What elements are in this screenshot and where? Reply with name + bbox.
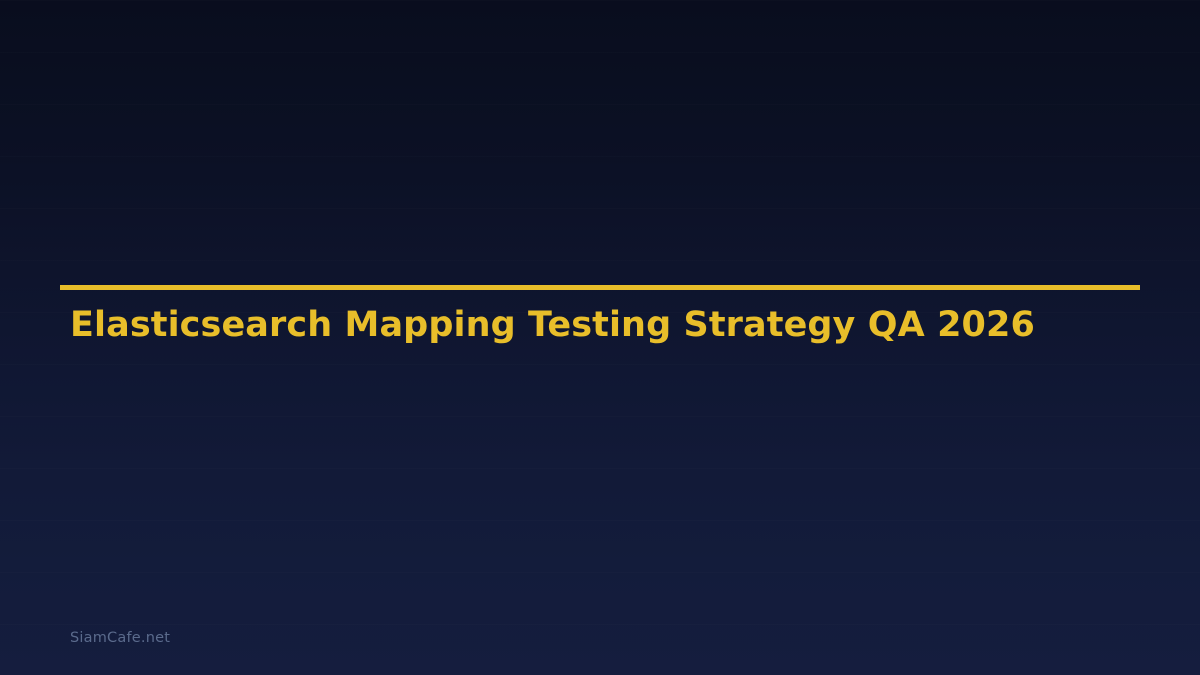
presentation-slide: Elasticsearch Mapping Testing Strategy Q… xyxy=(0,0,1200,675)
footer-brand-label: SiamCafe.net xyxy=(70,631,170,646)
title-block: Elasticsearch Mapping Testing Strategy Q… xyxy=(60,285,1140,344)
slide-title: Elasticsearch Mapping Testing Strategy Q… xyxy=(60,290,1140,344)
